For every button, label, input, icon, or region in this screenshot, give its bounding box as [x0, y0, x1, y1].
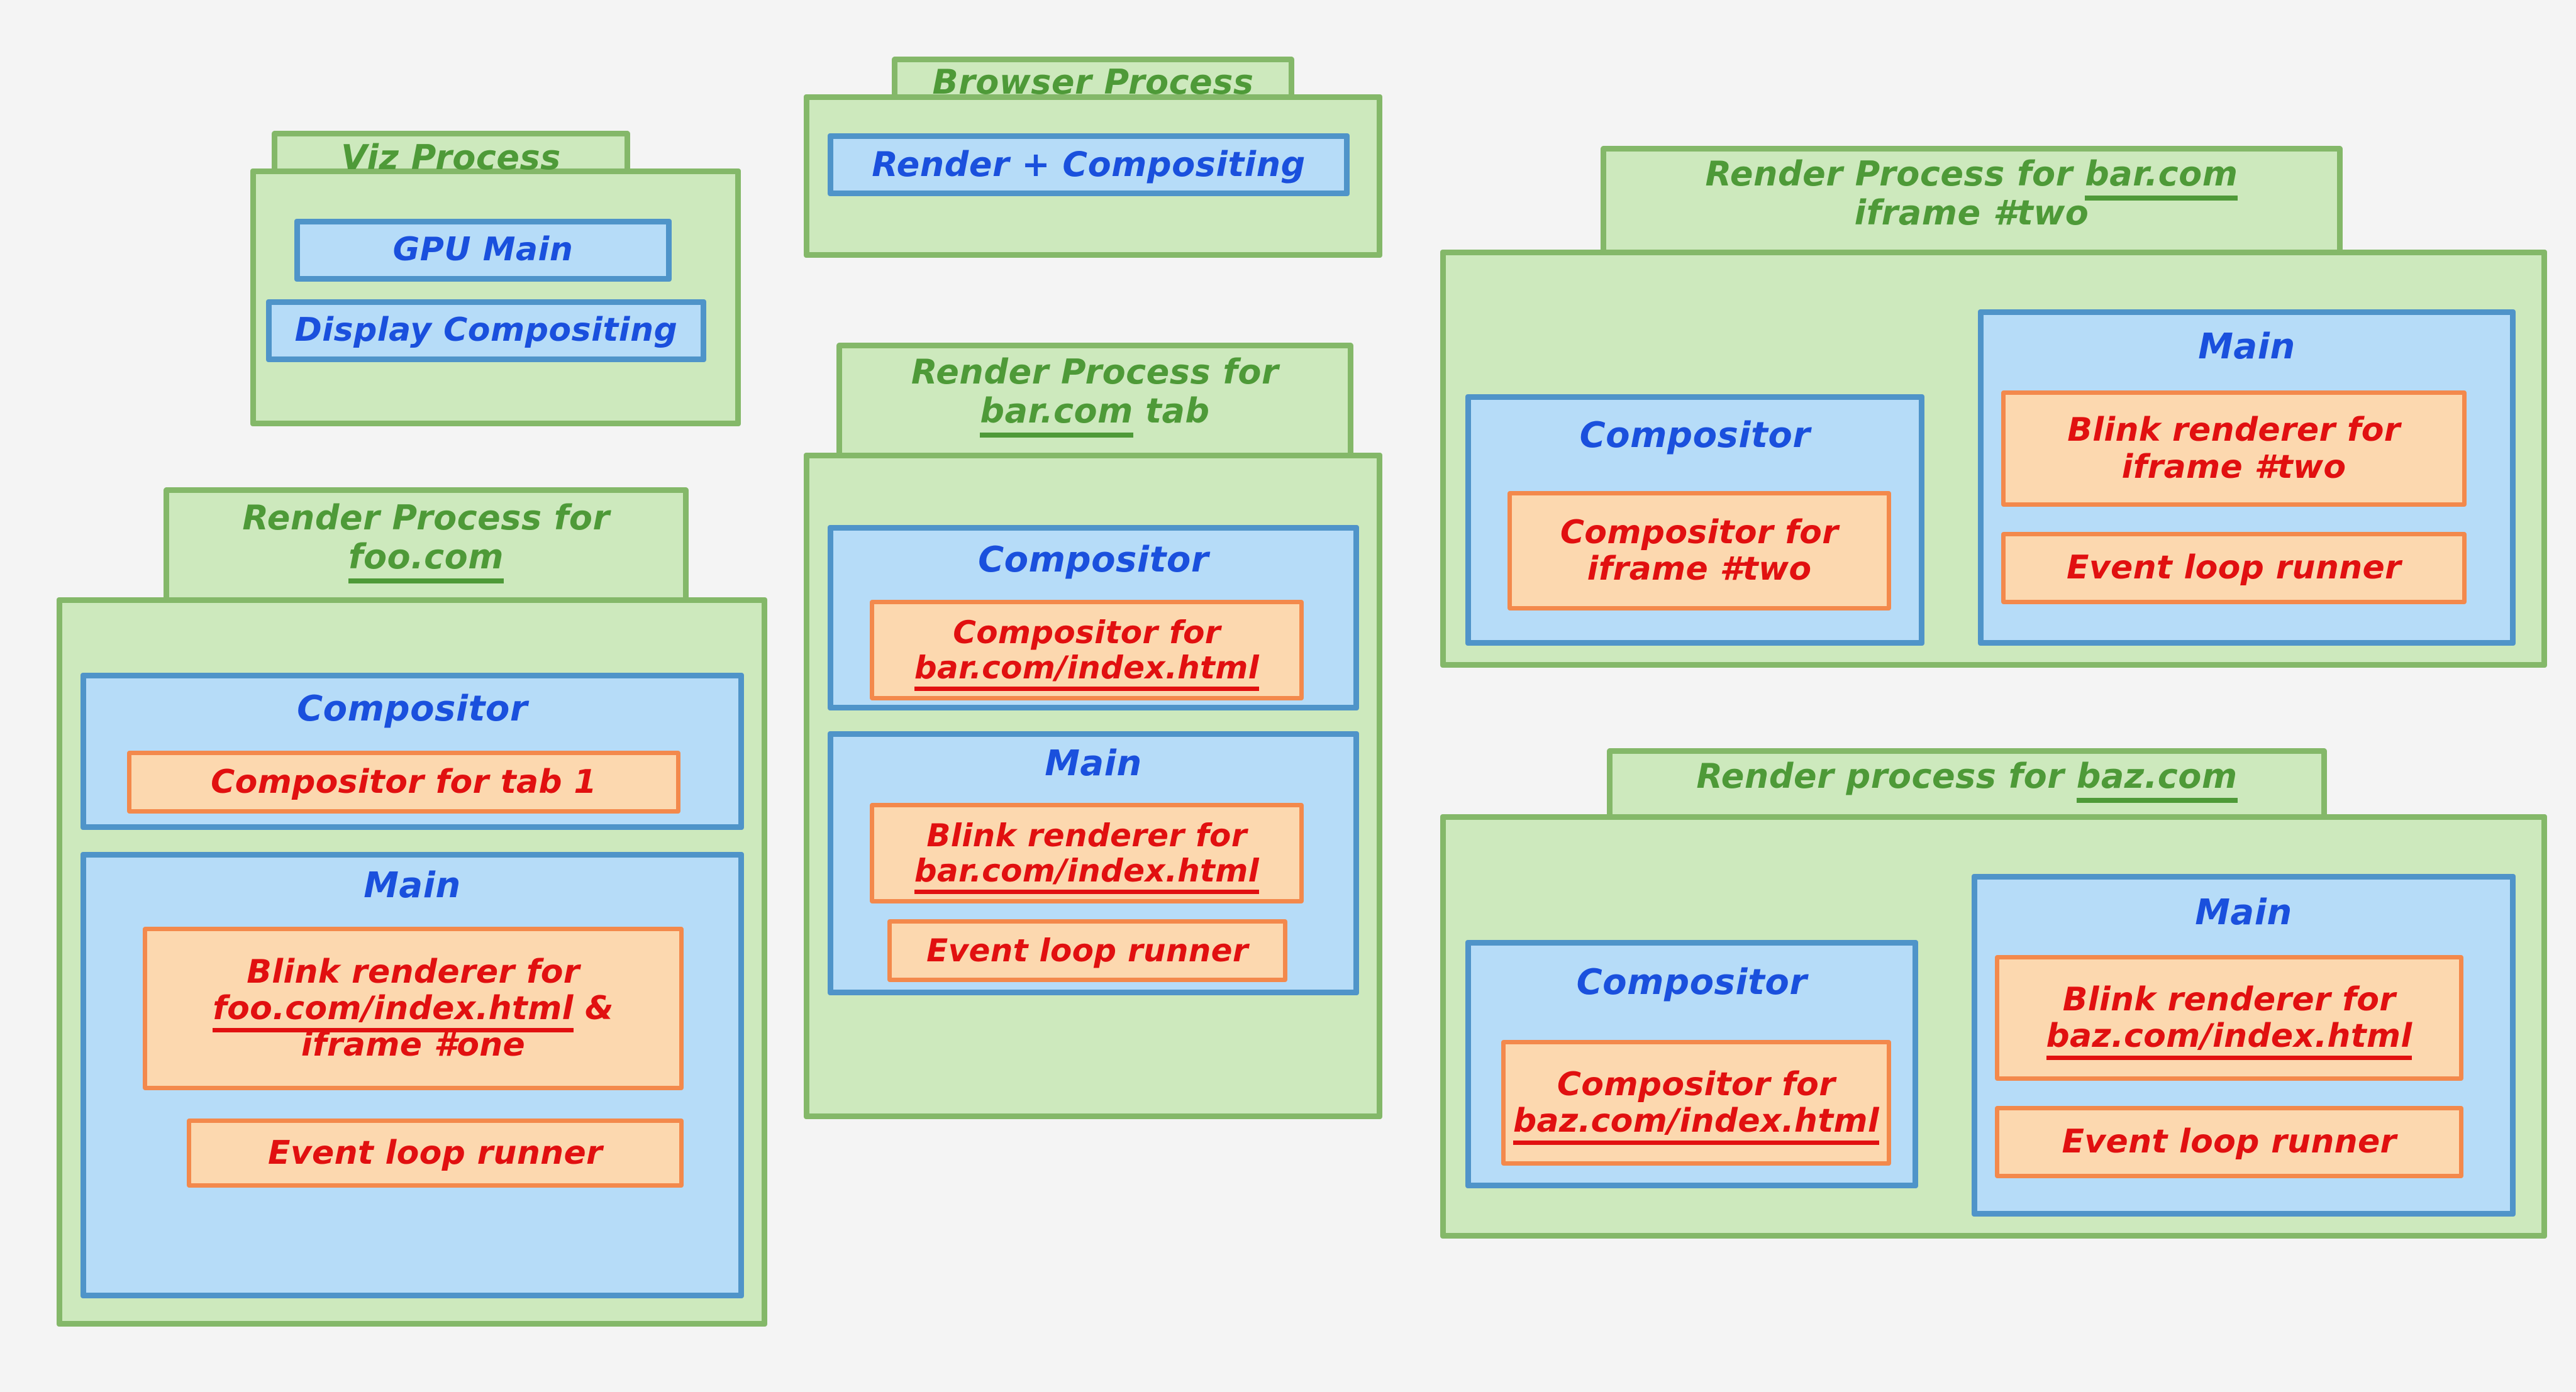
task-blink-renderer-bar: Blink renderer for bar.com/index.html: [870, 803, 1304, 903]
thread-foo-compositor: Compositor Compositor for tab 1: [80, 673, 744, 830]
task-blink-renderer-bar-url: bar.com/index.html: [914, 853, 1259, 894]
task-foo-event-loop-runner: Event loop runner: [187, 1119, 684, 1188]
process-render-bar-iframe-two-title: Render Process for bar.com iframe #two: [1553, 155, 2390, 232]
task-blink-renderer-iframe-two: Blink renderer for iframe #two: [2001, 390, 2467, 507]
task-blink-renderer-baz-url: baz.com/index.html: [2046, 1017, 2412, 1060]
task-bar-event-loop-runner: Event loop runner: [887, 919, 1287, 982]
thread-display-compositing-label: Display Compositing: [295, 312, 678, 348]
process-render-baz: Render process for baz.com Compositor Co…: [1440, 748, 2547, 1239]
process-render-foo: Render Process for foo.com Compositor Co…: [57, 487, 767, 1327]
process-viz-title: Viz Process: [272, 138, 630, 177]
thread-bar-iframe-two-compositor: Compositor Compositor for iframe #two: [1465, 394, 1924, 646]
process-render-bar-tab-suffix: tab: [1133, 391, 1210, 431]
task-compositor-bar-url: bar.com/index.html: [914, 649, 1259, 691]
task-baz-event-loop-runner: Event loop runner: [1995, 1106, 2463, 1178]
process-render-bar-iframe-two-title-prefix: Render Process for: [1706, 154, 2085, 194]
thread-render-compositing: Render + Compositing: [828, 133, 1350, 196]
thread-bar-iframe-two-compositor-label: Compositor: [1471, 416, 1919, 455]
thread-baz-main: Main Blink renderer for baz.com/index.ht…: [1972, 874, 2516, 1217]
thread-bar-compositor: Compositor Compositor for bar.com/index.…: [828, 525, 1359, 710]
task-compositor-for-tab-1: Compositor for tab 1: [127, 751, 680, 814]
thread-bar-iframe-two-main: Main Blink renderer for iframe #two Even…: [1978, 309, 2516, 646]
process-render-baz-title-prefix: Render process for: [1696, 756, 2076, 796]
thread-baz-compositor-label: Compositor: [1471, 963, 1913, 1002]
process-render-foo-title: Render Process for foo.com: [164, 499, 689, 576]
thread-foo-main: Main Blink renderer for foo.com/index.ht…: [80, 852, 744, 1298]
task-iframe-two-event-loop-runner: Event loop runner: [2001, 532, 2467, 604]
thread-foo-compositor-label: Compositor: [86, 690, 738, 729]
thread-baz-compositor: Compositor Compositor for baz.com/index.…: [1465, 940, 1918, 1188]
task-compositor-baz-index: Compositor for baz.com/index.html: [1501, 1040, 1891, 1166]
task-blink-renderer-foo: Blink renderer for foo.com/index.html & …: [143, 927, 684, 1090]
process-viz-body: [250, 168, 741, 426]
thread-gpu-main: GPU Main: [294, 219, 672, 282]
task-compositor-iframe-two: Compositor for iframe #two: [1507, 491, 1891, 610]
process-render-baz-domain: baz.com: [2077, 756, 2238, 803]
process-viz: Viz Process GPU Main Display Compositing: [250, 131, 741, 426]
thread-baz-main-label: Main: [1977, 893, 2510, 932]
process-browser: Browser Process Render + Compositing: [804, 57, 1382, 258]
task-compositor-bar-index: Compositor for bar.com/index.html: [870, 600, 1304, 700]
process-render-bar-iframe-two-domain: bar.com: [2085, 154, 2238, 201]
thread-render-compositing-label: Render + Compositing: [872, 146, 1306, 183]
process-render-bar-tab-domain: bar.com: [980, 391, 1133, 438]
thread-display-compositing: Display Compositing: [266, 299, 706, 362]
thread-bar-main: Main Blink renderer for bar.com/index.ht…: [828, 731, 1359, 995]
process-render-foo-domain: foo.com: [348, 537, 504, 583]
process-render-baz-title: Render process for baz.com: [1607, 757, 2327, 796]
task-compositor-baz-url: baz.com/index.html: [1513, 1102, 1879, 1145]
process-render-bar-iframe-two: Render Process for bar.com iframe #two C…: [1440, 146, 2547, 668]
process-render-bar-tab: Render Process for bar.com tab Composito…: [804, 343, 1382, 1119]
process-browser-title: Browser Process: [892, 63, 1294, 102]
task-blink-renderer-foo-amp: &: [574, 990, 614, 1027]
thread-bar-iframe-two-main-label: Main: [1984, 328, 2510, 367]
thread-bar-compositor-label: Compositor: [833, 541, 1353, 580]
thread-gpu-main-label: GPU Main: [393, 232, 574, 268]
thread-bar-main-label: Main: [833, 744, 1353, 783]
process-render-bar-tab-title: Render Process for bar.com tab: [836, 353, 1353, 430]
task-blink-renderer-baz: Blink renderer for baz.com/index.html: [1995, 955, 2463, 1081]
thread-foo-main-label: Main: [86, 866, 738, 905]
